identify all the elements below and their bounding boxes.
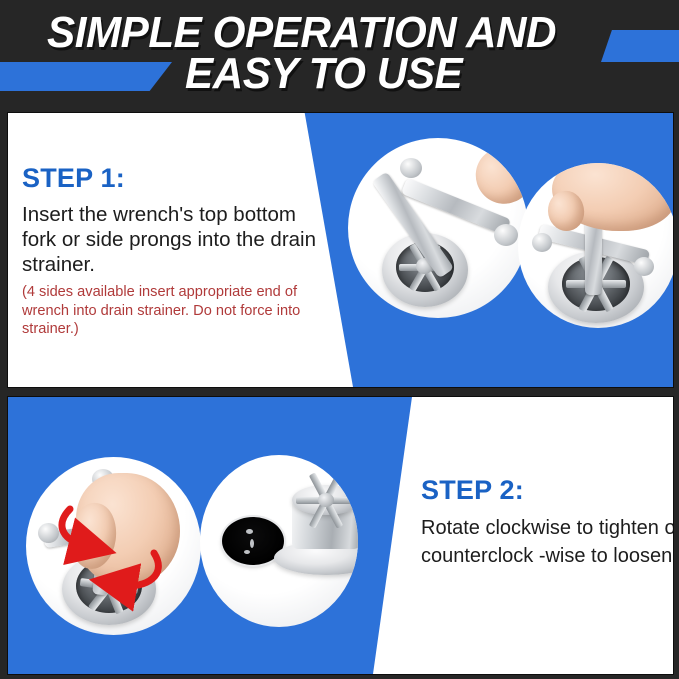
header-title-line-2: EASY TO USE (185, 52, 462, 96)
photo-hand-pressing-wrench-into-strainer (518, 163, 674, 328)
step-1-text-block: STEP 1: Insert the wrench's top bottom f… (22, 163, 322, 339)
infographic-page: SIMPLE OPERATION AND EASY TO USE STEP 1:… (0, 0, 679, 679)
step-1-body: Insert the wrench's top bottom fork or s… (22, 202, 322, 277)
rotation-arrow-lower (122, 553, 158, 586)
step-2-body: Rotate clockwise to tighten or countercl… (421, 514, 674, 570)
step-1-heading: STEP 1: (22, 163, 322, 193)
rotation-arrows (26, 457, 201, 635)
header-accent-bar-right (601, 30, 679, 62)
step-2-heading: STEP 2: (421, 475, 674, 505)
step-1-card: STEP 1: Insert the wrench's top bottom f… (7, 112, 674, 388)
step-2-text-block: STEP 2: Rotate clockwise to tighten or c… (421, 475, 674, 570)
wrench-end-fork-top (400, 158, 422, 178)
rotation-arrow-upper (62, 509, 84, 545)
photo-open-drain-hole-and-removed-strainer (200, 455, 358, 627)
wrench-end-left (532, 233, 552, 252)
step-1-note: (4 sides available insert appropriate en… (22, 283, 322, 339)
photo-wrench-across-drain-strainer (348, 138, 528, 318)
header-banner: SIMPLE OPERATION AND EASY TO USE (0, 0, 679, 110)
wrench-end-socket (494, 224, 518, 246)
wrench-end-right (634, 257, 654, 276)
step-2-card: STEP 2: Rotate clockwise to tighten or c… (7, 396, 674, 675)
strainer-hub (318, 493, 334, 507)
header-accent-bar-left (0, 62, 172, 91)
fingertip (469, 141, 528, 211)
photo-hand-rotating-wrench-with-arrows (26, 457, 201, 635)
